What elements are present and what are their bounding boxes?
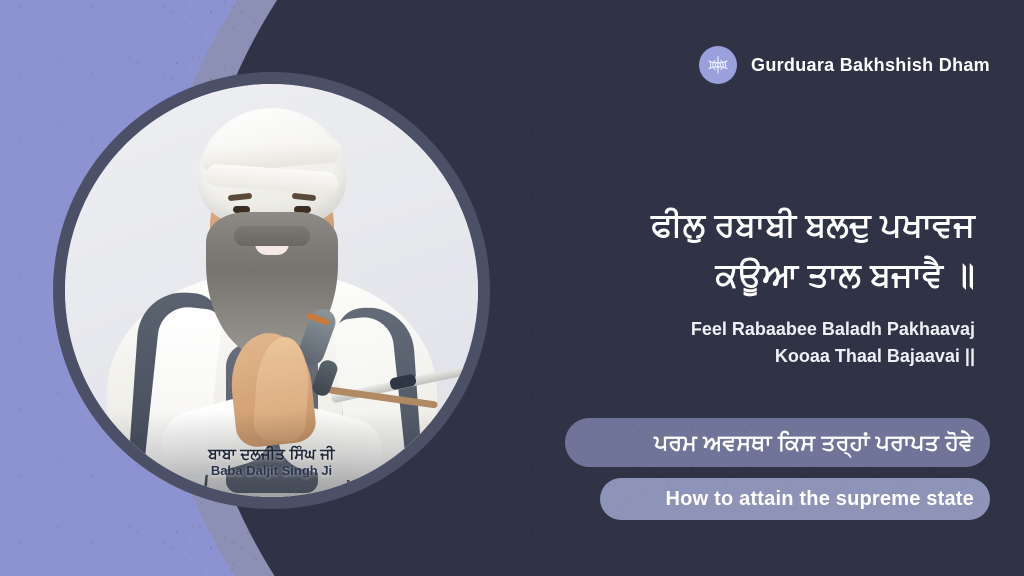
- portrait-caption: ਬਾਬਾ ਦਲਜੀਤ ਸਿੰਘ ਜੀ Baba Daljit Singh Ji: [65, 447, 478, 479]
- verse-roman-line-2: Kooaa Thaal Bajaavai ||: [505, 343, 975, 370]
- portrait-circle-frame: ਬਾਬਾ ਦਲਜੀਤ ਸਿੰਘ ਜੀ Baba Daljit Singh Ji: [53, 72, 490, 509]
- portrait-caption-roman: Baba Daljit Singh Ji: [65, 464, 478, 479]
- verse-roman-line-1: Feel Rabaabee Baladh Pakhaavaj: [505, 316, 975, 343]
- brand-header[interactable]: Gurduara Bakhshish Dham: [699, 46, 990, 84]
- verse-transliteration: Feel Rabaabee Baladh Pakhaavaj Kooaa Tha…: [505, 316, 975, 369]
- question-bar-text: ਪਰਮ ਅਵਸਥਾ ਕਿਸ ਤਰ੍ਹਾਂ ਪਰਾਪਤ ਹੋਵੇ: [654, 430, 973, 456]
- verse-block: ਫੀਲੁ ਰਬਾਬੀ ਬਲਦੁ ਪਖਾਵਜ ਕਊਆ ਤਾਲ ਬਜਾਵੈ ॥ Fe…: [505, 200, 975, 370]
- portrait-caption-gurmukhi: ਬਾਬਾ ਦਲਜੀਤ ਸਿੰਘ ਜੀ: [65, 447, 478, 464]
- question-bar-gurmukhi: ਪਰਮ ਅਵਸਥਾ ਕਿਸ ਤਰ੍ਹਾਂ ਪਰਾਪਤ ਹੋਵੇ: [565, 418, 990, 467]
- khanda-emblem-icon: [699, 46, 737, 84]
- brand-name: Gurduara Bakhshish Dham: [751, 55, 990, 76]
- portrait-image: ਬਾਬਾ ਦਲਜੀਤ ਸਿੰਘ ਜੀ Baba Daljit Singh Ji: [65, 84, 478, 497]
- portrait-moustache: [234, 226, 310, 246]
- verse-gurmukhi-line-2: ਕਊਆ ਤਾਲ ਬਜਾਵੈ ॥: [505, 250, 975, 300]
- verse-gurmukhi: ਫੀਲੁ ਰਬਾਬੀ ਬਲਦੁ ਪਖਾਵਜ ਕਊਆ ਤਾਲ ਬਜਾਵੈ ॥: [505, 200, 975, 300]
- slide-canvas: ਬਾਬਾ ਦਲਜੀਤ ਸਿੰਘ ਜੀ Baba Daljit Singh Ji: [0, 0, 1024, 576]
- answer-bar-english: How to attain the supreme state: [600, 478, 990, 520]
- answer-bar-text: How to attain the supreme state: [666, 488, 974, 511]
- verse-gurmukhi-line-1: ਫੀਲੁ ਰਬਾਬੀ ਬਲਦੁ ਪਖਾਵਜ: [505, 200, 975, 250]
